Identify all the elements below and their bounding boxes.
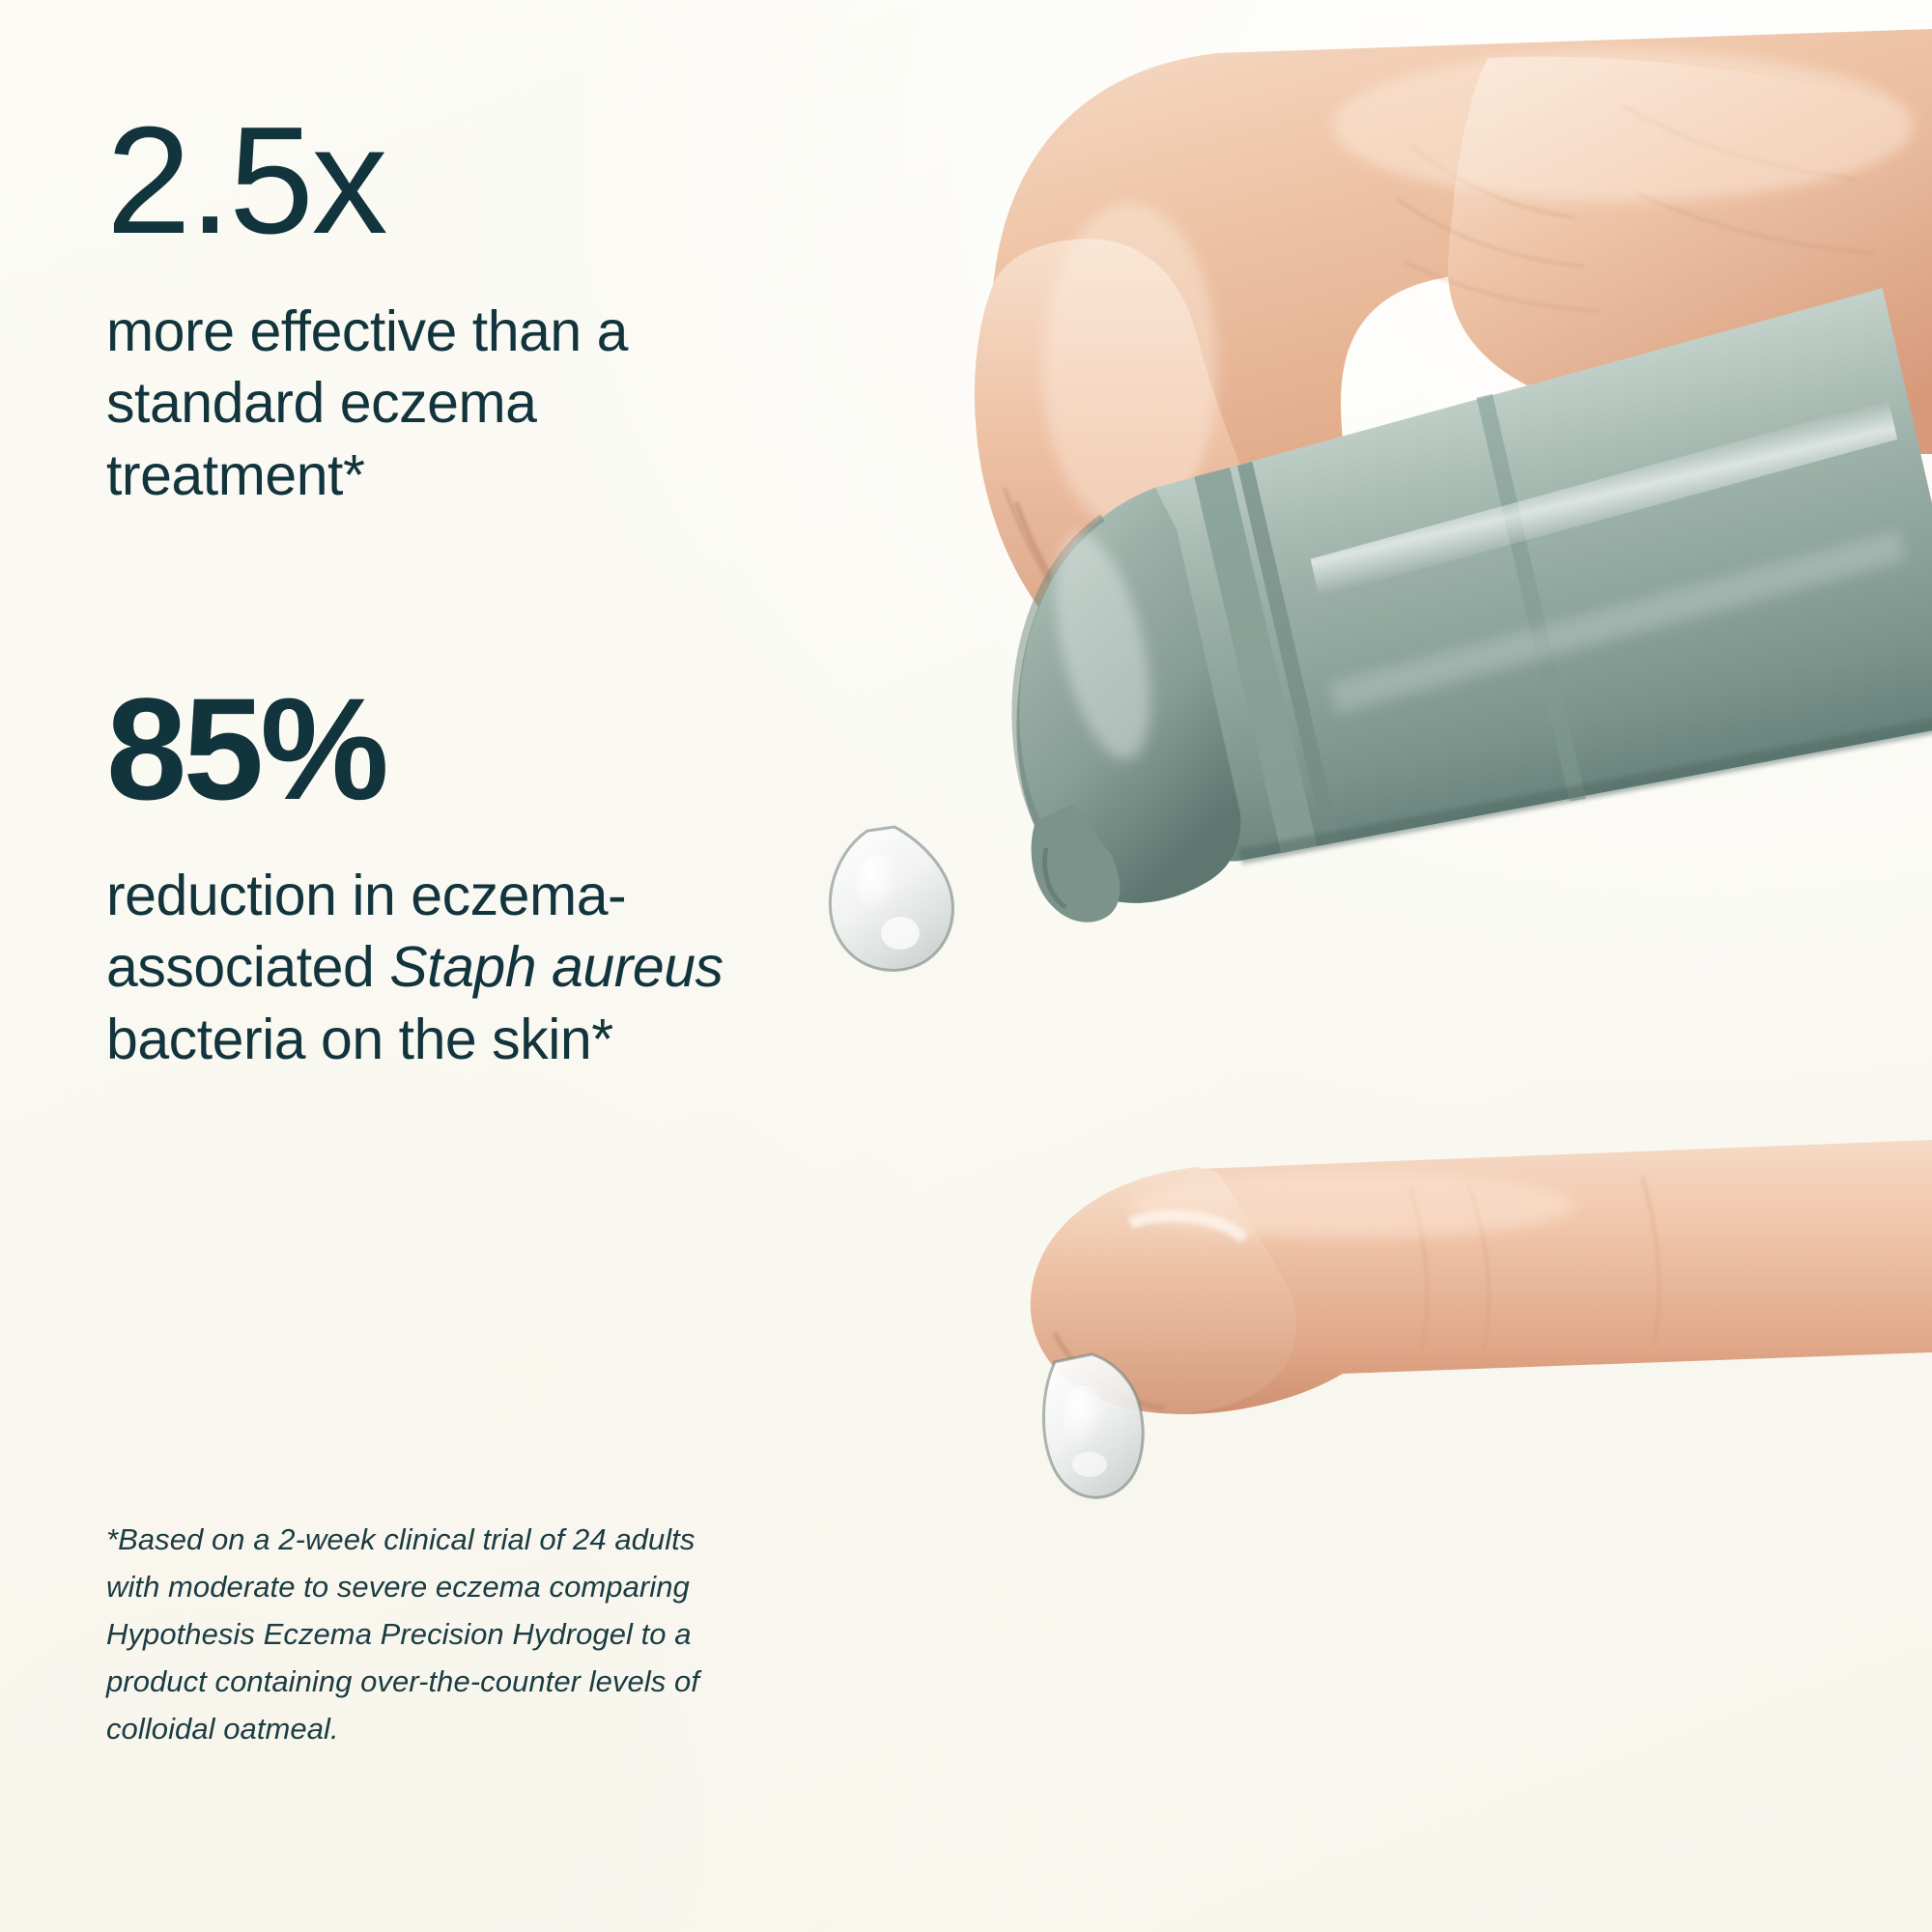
footnote-disclaimer: *Based on a 2-week clinical trial of 24 … xyxy=(106,1517,705,1753)
lower-finger xyxy=(1031,1140,1932,1414)
stat-figure-1: 2.5x xyxy=(106,104,879,257)
stat-figure-2: 85% xyxy=(106,676,879,821)
stat-body-2: reduction in eczema-associated Staph aur… xyxy=(106,860,782,1075)
stat-block-2: 85% reduction in eczema-associated Staph… xyxy=(106,676,879,1075)
stat-body-2-suffix: bacteria on the skin* xyxy=(106,1008,613,1071)
product-claim-graphic: 2.5x more effective than a standard ecze… xyxy=(0,0,1932,1932)
stat-block-1: 2.5x more effective than a standard ecze… xyxy=(106,104,879,511)
stat-body-1: more effective than a standard eczema tr… xyxy=(106,296,782,511)
species-name-italic: Staph aureus xyxy=(389,935,723,999)
